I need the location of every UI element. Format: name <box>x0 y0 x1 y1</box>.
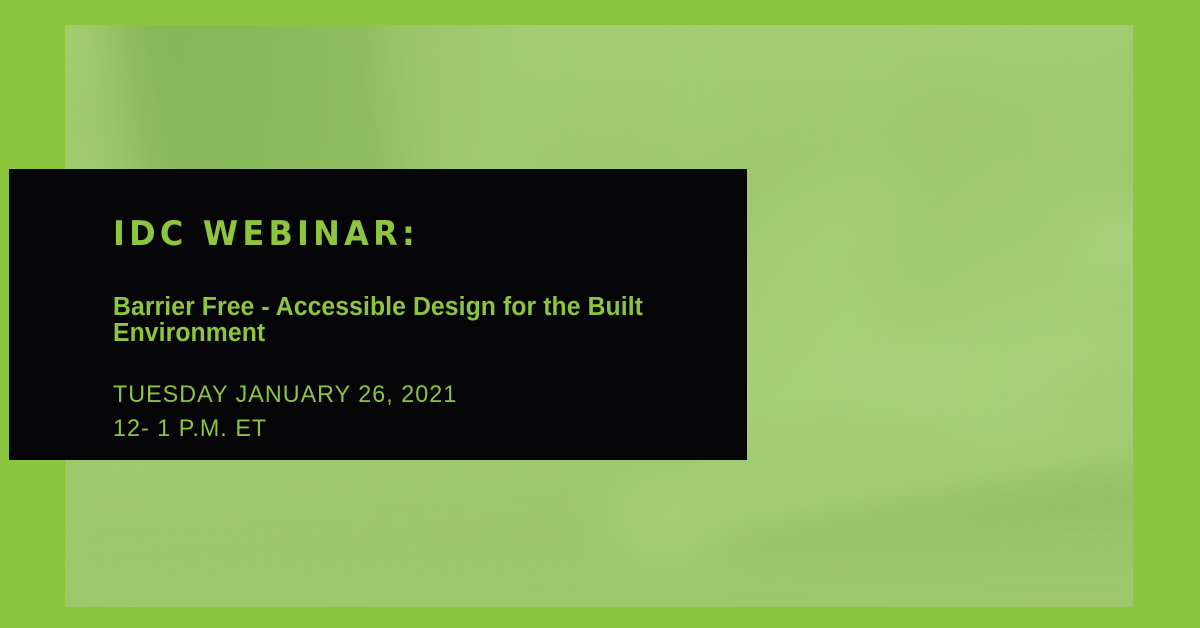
webinar-date: TUESDAY JANUARY 26, 2021 <box>113 378 677 412</box>
promo-graphic: IDC WEBINAR: Barrier Free - Accessible D… <box>0 0 1200 628</box>
webinar-subtitle: Barrier Free - Accessible Design for the… <box>113 294 685 347</box>
webinar-time: 12- 1 P.M. ET <box>113 412 677 446</box>
webinar-datetime: TUESDAY JANUARY 26, 2021 12- 1 P.M. ET <box>113 378 677 446</box>
webinar-title: IDC WEBINAR: <box>113 217 671 251</box>
webinar-info-card: IDC WEBINAR: Barrier Free - Accessible D… <box>9 169 747 460</box>
